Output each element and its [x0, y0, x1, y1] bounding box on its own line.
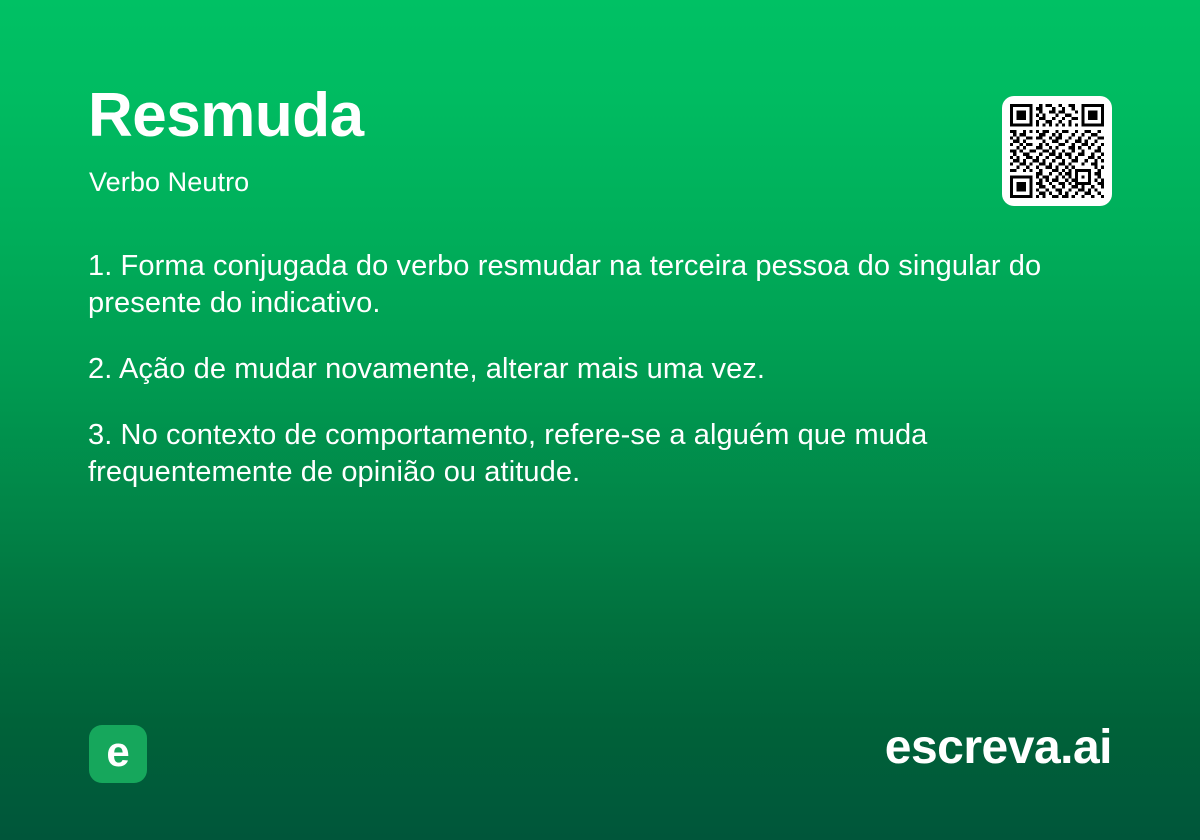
- definition-item-2: 2. Ação de mudar novamente, alterar mais…: [88, 351, 1118, 388]
- logo-letter: e: [89, 725, 147, 783]
- definition-list: 1. Forma conjugada do verbo resmudar na …: [88, 248, 1118, 492]
- brand-wordmark: escreva.ai: [885, 722, 1112, 775]
- escreva-e-logo-icon: e: [89, 725, 147, 783]
- definition-item-3: 3. No contexto de comportamento, refere-…: [88, 417, 1118, 491]
- definition-item-1: 1. Forma conjugada do verbo resmudar na …: [88, 248, 1118, 322]
- qr-code-icon[interactable]: [1002, 96, 1112, 206]
- part-of-speech-label: Verbo Neutro: [89, 168, 249, 198]
- definition-card: Resmuda Verbo Neutro: [0, 0, 1200, 840]
- page-title: Resmuda: [88, 85, 364, 147]
